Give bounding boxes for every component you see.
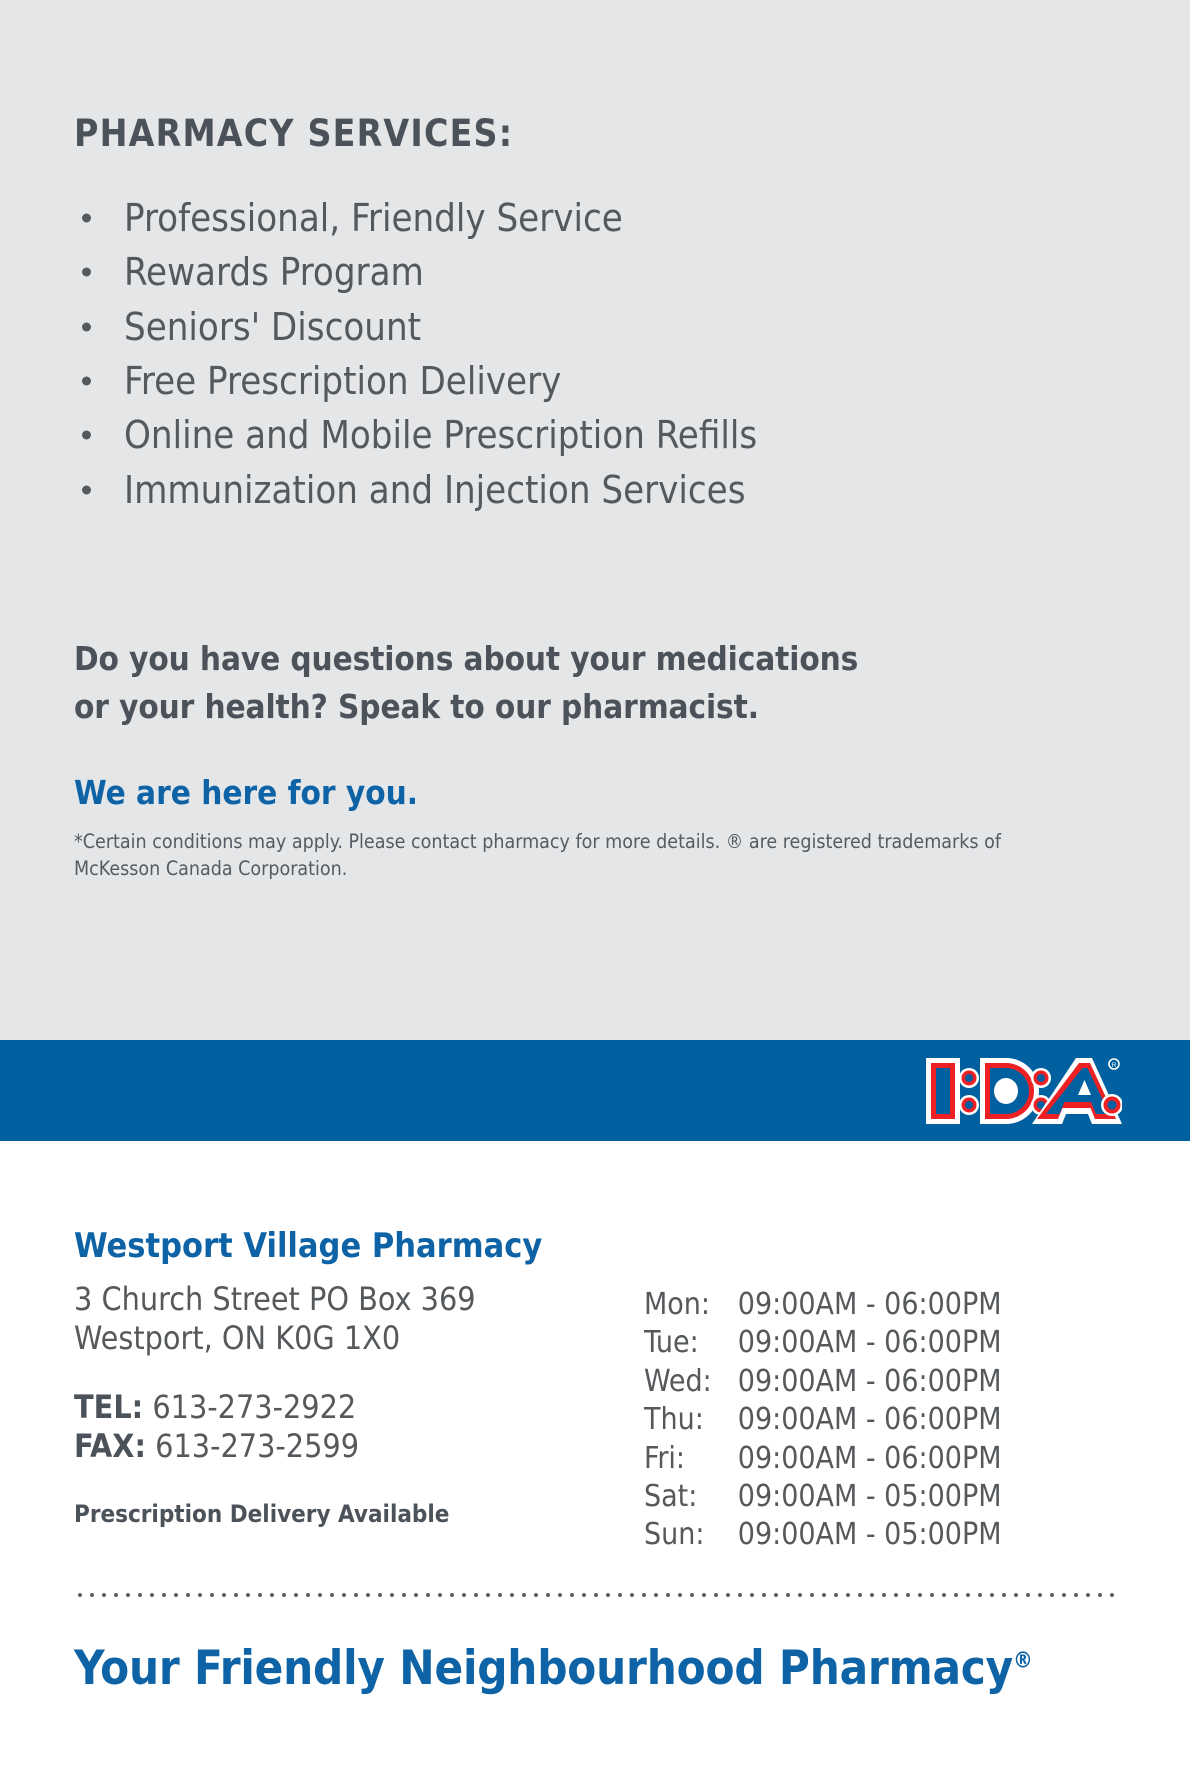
table-row: Wed: 09:00AM - 06:00PM	[644, 1363, 1002, 1401]
hours-time: 09:00AM - 06:00PM	[738, 1324, 1002, 1362]
delivery-note: Prescription Delivery Available	[74, 1500, 644, 1528]
list-item: Online and Mobile Prescription Refills	[74, 408, 1116, 462]
list-item: Free Prescription Delivery	[74, 354, 1116, 408]
table-row: Mon: 09:00AM - 06:00PM	[644, 1286, 1002, 1324]
telephone-label: TEL:	[74, 1388, 143, 1426]
hours-table: Mon: 09:00AM - 06:00PM Tue: 09:00AM - 06…	[644, 1286, 1002, 1555]
fax-value[interactable]: 613-273-2599	[155, 1427, 359, 1465]
svg-text:R: R	[1112, 1062, 1117, 1069]
ida-logo: R	[922, 1052, 1122, 1130]
hours-time: 09:00AM - 05:00PM	[738, 1516, 1002, 1554]
list-item-label: Rewards Program	[124, 250, 424, 294]
store-details-row: 3 Church Street PO Box 369 Westport, ON …	[74, 1280, 1118, 1555]
hours-day: Thu:	[644, 1401, 738, 1439]
list-item: Professional, Friendly Service	[74, 191, 1116, 245]
store-contact-column: 3 Church Street PO Box 369 Westport, ON …	[74, 1280, 644, 1528]
bullet-icon	[82, 322, 91, 331]
hours-time: 09:00AM - 06:00PM	[738, 1440, 1002, 1478]
list-item: Rewards Program	[74, 245, 1116, 299]
ask-pharmacist-block: Do you have questions about your medicat…	[74, 635, 1116, 731]
hours-day: Sun:	[644, 1516, 738, 1554]
ask-question-line-2: or your health? Speak to our pharmacist.	[74, 683, 1116, 731]
table-row: Tue: 09:00AM - 06:00PM	[644, 1324, 1002, 1362]
hours-day: Wed:	[644, 1363, 738, 1401]
hours-time: 09:00AM - 06:00PM	[738, 1401, 1002, 1439]
services-panel: PHARMACY SERVICES: Professional, Friendl…	[0, 0, 1190, 1040]
ask-question-line-1: Do you have questions about your medicat…	[74, 635, 1116, 683]
hours-time: 09:00AM - 06:00PM	[738, 1363, 1002, 1401]
bullet-icon	[82, 268, 91, 277]
address-line-1: 3 Church Street PO Box 369	[74, 1280, 644, 1319]
brand-banner: R	[0, 1040, 1190, 1141]
store-info-section: Westport Village Pharmacy 3 Church Stree…	[0, 1141, 1192, 1785]
bullet-icon	[82, 214, 91, 223]
table-row: Sun: 09:00AM - 05:00PM	[644, 1516, 1002, 1554]
list-item-label: Free Prescription Delivery	[124, 359, 561, 403]
services-list: Professional, Friendly Service Rewards P…	[74, 191, 1116, 517]
list-item: Seniors' Discount	[74, 300, 1116, 354]
hours-day: Tue:	[644, 1324, 738, 1362]
registered-trademark-icon: ®	[1013, 1648, 1033, 1673]
page-title: PHARMACY SERVICES:	[74, 0, 1116, 155]
here-for-you-text: We are here for you.	[74, 773, 1116, 812]
fax-label: FAX:	[74, 1427, 146, 1465]
tagline: Your Friendly Neighbourhood Pharmacy®	[74, 1641, 1033, 1696]
table-row: Sat: 09:00AM - 05:00PM	[644, 1478, 1002, 1516]
list-item-label: Online and Mobile Prescription Refills	[124, 413, 757, 457]
bullet-icon	[82, 377, 91, 386]
fax-line: FAX: 613-273-2599	[74, 1427, 644, 1466]
hours-day: Fri:	[644, 1440, 738, 1478]
tagline-text: Your Friendly Neighbourhood Pharmacy	[74, 1641, 1013, 1696]
table-row: Fri: 09:00AM - 06:00PM	[644, 1440, 1002, 1478]
store-hours-column: Mon: 09:00AM - 06:00PM Tue: 09:00AM - 06…	[644, 1280, 1118, 1555]
contact-block: TEL: 613-273-2922 FAX: 613-273-2599	[74, 1388, 644, 1466]
telephone-value[interactable]: 613-273-2922	[152, 1388, 356, 1426]
hours-day: Mon:	[644, 1286, 738, 1324]
list-item: Immunization and Injection Services	[74, 463, 1116, 517]
list-item-label: Immunization and Injection Services	[124, 468, 746, 512]
address-line-2: Westport, ON K0G 1X0	[74, 1319, 644, 1358]
disclaimer-text: *Certain conditions may apply. Please co…	[74, 828, 1064, 883]
hours-time: 09:00AM - 05:00PM	[738, 1478, 1002, 1516]
store-name: Westport Village Pharmacy	[74, 1141, 1118, 1266]
bullet-icon	[82, 485, 91, 494]
bullet-icon	[82, 431, 91, 440]
hours-day: Sat:	[644, 1478, 738, 1516]
table-row: Thu: 09:00AM - 06:00PM	[644, 1401, 1002, 1439]
list-item-label: Professional, Friendly Service	[124, 196, 623, 240]
hours-time: 09:00AM - 06:00PM	[738, 1286, 1002, 1324]
divider	[74, 1592, 1118, 1598]
list-item-label: Seniors' Discount	[124, 305, 421, 349]
telephone-line: TEL: 613-273-2922	[74, 1388, 644, 1427]
